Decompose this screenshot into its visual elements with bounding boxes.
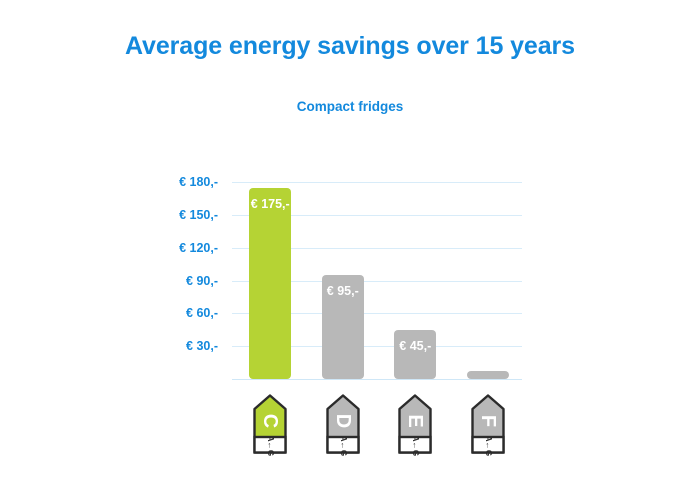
badge-scale-label: A←G: [339, 429, 347, 463]
energy-label-badges: CA←GDA←GEA←GFA←G: [232, 394, 522, 456]
badge-scale-label: A←G: [484, 429, 492, 463]
bar-series: € 175,-€ 95,-€ 45,-: [232, 176, 522, 386]
energy-label-badge-e[interactable]: EA←G: [398, 394, 432, 454]
bar-value-label: € 95,-: [322, 284, 364, 298]
y-axis-tick-label: € 90,-: [152, 274, 232, 288]
y-axis-tick-label: € 30,-: [152, 339, 232, 353]
energy-label-badge-d[interactable]: DA←G: [326, 394, 360, 454]
bar-e[interactable]: € 45,-: [394, 330, 436, 379]
energy-savings-chart: Average energy savings over 15 years Com…: [0, 0, 700, 485]
bar-c[interactable]: € 175,-: [249, 188, 291, 380]
badge-scale-label: A←G: [266, 429, 274, 463]
plot-area: € 30,-€ 60,-€ 90,-€ 120,-€ 150,-€ 180,- …: [232, 176, 522, 386]
bar-d[interactable]: € 95,-: [322, 275, 364, 379]
y-axis-tick-label: € 150,-: [152, 208, 232, 222]
energy-label-badge-c[interactable]: CA←G: [253, 394, 287, 454]
y-axis-tick-label: € 180,-: [152, 175, 232, 189]
badge-scale-label: A←G: [411, 429, 419, 463]
chart-subtitle: Compact fridges: [0, 99, 700, 114]
energy-label-badge-f[interactable]: FA←G: [471, 394, 505, 454]
y-axis-tick-label: € 60,-: [152, 306, 232, 320]
chart-title: Average energy savings over 15 years: [0, 32, 700, 61]
bar-value-label: € 45,-: [394, 339, 436, 353]
y-axis-tick-label: € 120,-: [152, 241, 232, 255]
bar-f[interactable]: [467, 371, 509, 379]
bar-value-label: € 175,-: [249, 197, 291, 211]
